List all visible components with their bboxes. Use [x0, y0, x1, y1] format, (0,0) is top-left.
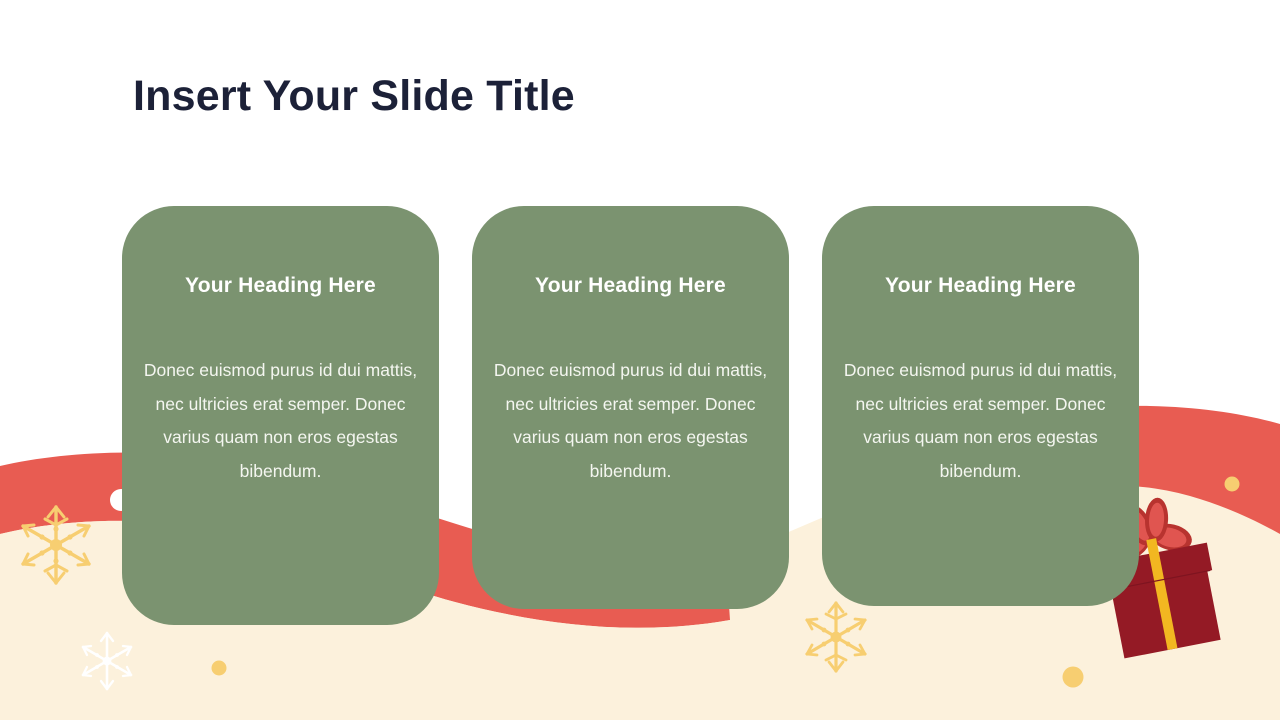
card-body-1: Donec euismod purus id dui mattis, nec u… [138, 354, 423, 488]
cards-container: Your Heading Here Donec euismod purus id… [0, 0, 1280, 720]
card-heading-2: Your Heading Here [472, 274, 789, 298]
content-card-3[interactable]: Your Heading Here Donec euismod purus id… [822, 206, 1139, 606]
card-body-3: Donec euismod purus id dui mattis, nec u… [838, 354, 1123, 488]
content-card-1[interactable]: Your Heading Here Donec euismod purus id… [122, 206, 439, 625]
card-body-2: Donec euismod purus id dui mattis, nec u… [488, 354, 773, 488]
content-card-2[interactable]: Your Heading Here Donec euismod purus id… [472, 206, 789, 609]
slide-canvas: Insert Your Slide Title Your Heading Her… [0, 0, 1280, 720]
card-heading-1: Your Heading Here [122, 274, 439, 298]
card-heading-3: Your Heading Here [822, 274, 1139, 298]
